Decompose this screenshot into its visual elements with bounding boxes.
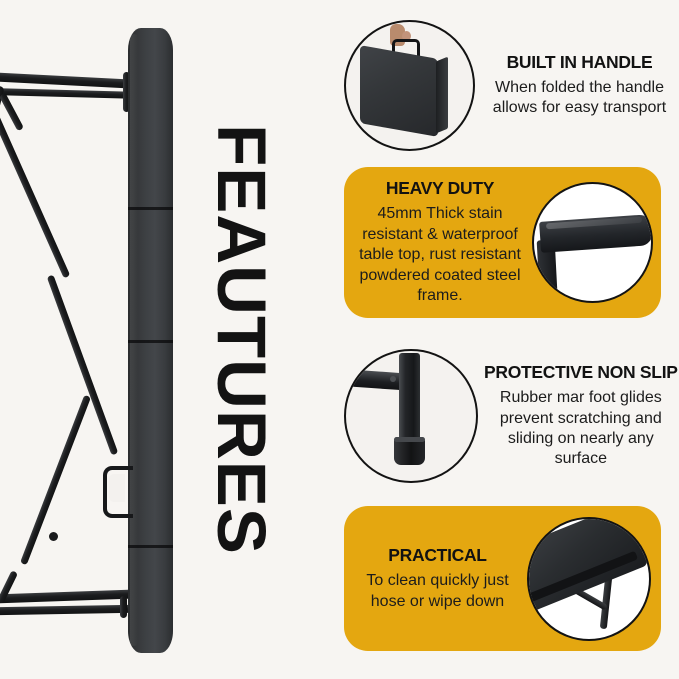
folded-table-side [436, 56, 448, 133]
feature-title: PRACTICAL [348, 545, 527, 566]
feature-body: Rubber mar foot glides prevent scratchin… [484, 388, 678, 470]
table-top-fold-seam [128, 340, 173, 343]
table-top-seam [128, 207, 173, 210]
infographic-canvas: FEAUTURES BUILT IN HANDLE When folded th… [0, 0, 679, 679]
frame-bar-upper-rail-2 [0, 88, 138, 99]
frame-bar-upper-rail [0, 72, 134, 88]
feature-body: To clean quickly just hose or wipe down [348, 571, 527, 612]
feature-copy: PROTECTIVE NON SLIP Rubber mar foot glid… [478, 362, 678, 470]
carry-handle-opening [109, 474, 125, 502]
frame-bar-diagonal-upper [0, 107, 70, 279]
frame-bar-lower-post [120, 596, 127, 618]
table-top-edge-closeup-icon [532, 182, 653, 303]
feature-body: When folded the handle allows for easy t… [483, 78, 676, 119]
feature-body: 45mm Thick stain resistant & waterproof … [348, 204, 532, 306]
section-title-text: FEAUTURES [207, 124, 276, 555]
feature-copy: PRACTICAL To clean quickly just hose or … [344, 545, 527, 612]
feature-copy: HEAVY DUTY 45mm Thick stain resistant & … [344, 178, 532, 306]
feature-panel-built-in-handle: BUILT IN HANDLE When folded the handle a… [344, 14, 676, 156]
table-top-seam-lower [128, 545, 173, 548]
leg-tube [399, 353, 420, 441]
folded-table-face [360, 45, 438, 137]
frame-bar-diagonal-mid [47, 275, 119, 456]
leg-bolt-icon [390, 376, 396, 382]
feature-panel-practical: PRACTICAL To clean quickly just hose or … [344, 506, 661, 651]
feature-title: PROTECTIVE NON SLIP [484, 362, 678, 383]
feature-panel-heavy-duty: HEAVY DUTY 45mm Thick stain resistant & … [344, 167, 661, 318]
frame-bar-lower-rail [0, 589, 138, 603]
table-leg-rubber-foot-icon [344, 349, 478, 483]
tilted-table-top-with-legs-icon [527, 517, 651, 641]
folded-table-carried-by-hand-icon [344, 20, 475, 151]
frame-pivot-joint [49, 532, 58, 541]
feature-panel-protective-non-slip: PROTECTIVE NON SLIP Rubber mar foot glid… [344, 340, 676, 492]
feature-title: BUILT IN HANDLE [483, 52, 676, 73]
feature-title: HEAVY DUTY [348, 178, 532, 199]
rubber-foot-lip [394, 437, 425, 442]
feature-copy: BUILT IN HANDLE When folded the handle a… [475, 52, 676, 119]
section-title-features: FEAUTURES [186, 0, 296, 679]
product-photo-folding-table [0, 0, 210, 679]
